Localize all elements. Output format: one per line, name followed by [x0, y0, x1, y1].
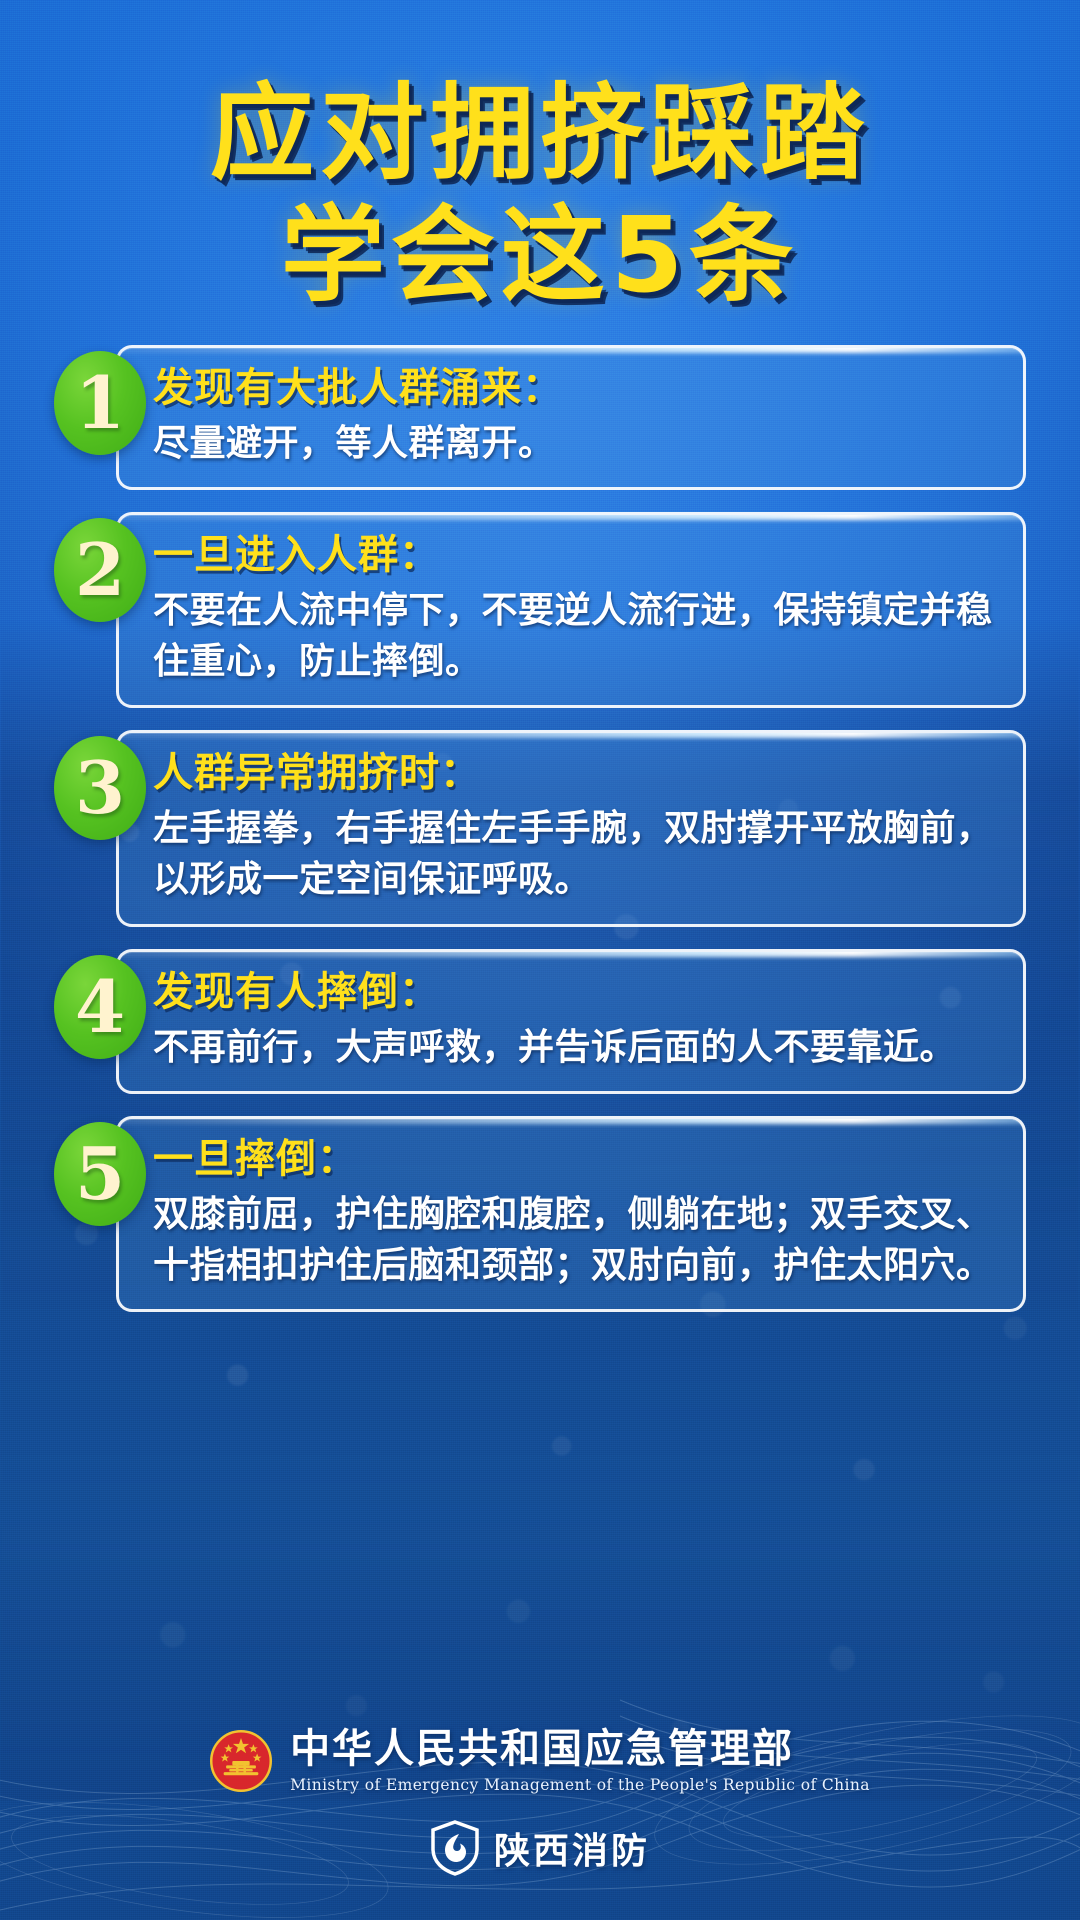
- tip-card: 人群异常拥挤时： 左手握拳，右手握住左手手腕，双肘撑开平放胸前，以形成一定空间保…: [116, 730, 1026, 926]
- ministry-name-en: Ministry of Emergency Management of the …: [290, 1776, 870, 1794]
- tip-card: 一旦进入人群： 不要在人流中停下，不要逆人流行进，保持镇定并稳住重心，防止摔倒。: [116, 512, 1026, 708]
- ministry-lockup: 中华人民共和国应急管理部 Ministry of Emergency Manag…: [0, 1727, 1080, 1794]
- tip-body: 尽量避开，等人群离开。: [153, 418, 999, 469]
- poster-root: 应对拥挤踩踏 学会这5条 1 发现有大批人群涌来： 尽量避开，等人群离开。 2 …: [0, 0, 1080, 1920]
- tip-number-badge: 4: [54, 955, 146, 1059]
- ministry-name-cn: 中华人民共和国应急管理部: [290, 1727, 870, 1771]
- brand-name: 陕西消防: [494, 1822, 650, 1874]
- tip-number-badge: 3: [54, 736, 146, 840]
- tip-heading: 一旦进入人群：: [153, 529, 999, 581]
- title-line-2: 学会这5条: [0, 200, 1080, 310]
- tip-number-badge: 2: [54, 518, 146, 622]
- tip-number: 3: [75, 752, 125, 824]
- tip-number-badge: 5: [54, 1122, 146, 1226]
- poster-title: 应对拥挤踩踏 学会这5条: [0, 78, 1080, 310]
- tip-heading: 人群异常拥挤时：: [153, 747, 999, 799]
- tip-heading: 发现有大批人群涌来：: [153, 362, 999, 414]
- shield-flame-icon: [430, 1820, 480, 1876]
- ministry-text: 中华人民共和国应急管理部 Ministry of Emergency Manag…: [290, 1727, 870, 1794]
- tip-item: 2 一旦进入人群： 不要在人流中停下，不要逆人流行进，保持镇定并稳住重心，防止摔…: [54, 512, 1026, 708]
- tip-body: 不要在人流中停下，不要逆人流行进，保持镇定并稳住重心，防止摔倒。: [153, 585, 999, 687]
- tip-number-badge: 1: [54, 351, 146, 455]
- tip-item: 5 一旦摔倒： 双膝前屈，护住胸腔和腹腔，侧躺在地；双手交叉、十指相扣护住后脑和…: [54, 1116, 1026, 1312]
- tip-item: 1 发现有大批人群涌来： 尽量避开，等人群离开。: [54, 345, 1026, 490]
- brand-lockup: 陕西消防: [0, 1820, 1080, 1876]
- tip-card: 发现有大批人群涌来： 尽量避开，等人群离开。: [116, 345, 1026, 490]
- tip-number: 5: [75, 1138, 125, 1210]
- tip-card: 发现有人摔倒： 不再前行，大声呼救，并告诉后面的人不要靠近。: [116, 949, 1026, 1094]
- tip-body: 不再前行，大声呼救，并告诉后面的人不要靠近。: [153, 1022, 999, 1073]
- tip-heading: 一旦摔倒：: [153, 1133, 999, 1185]
- tips-list: 1 发现有大批人群涌来： 尽量避开，等人群离开。 2 一旦进入人群： 不要在人流…: [0, 345, 1080, 1334]
- tip-item: 3 人群异常拥挤时： 左手握拳，右手握住左手手腕，双肘撑开平放胸前，以形成一定空…: [54, 730, 1026, 926]
- national-emblem-icon: [210, 1730, 272, 1792]
- tip-card: 一旦摔倒： 双膝前屈，护住胸腔和腹腔，侧躺在地；双手交叉、十指相扣护住后脑和颈部…: [116, 1116, 1026, 1312]
- tip-heading: 发现有人摔倒：: [153, 966, 999, 1018]
- tip-number: 1: [75, 367, 125, 439]
- tip-body: 双膝前屈，护住胸腔和腹腔，侧躺在地；双手交叉、十指相扣护住后脑和颈部；双肘向前，…: [153, 1189, 999, 1291]
- tip-item: 4 发现有人摔倒： 不再前行，大声呼救，并告诉后面的人不要靠近。: [54, 949, 1026, 1094]
- tip-body: 左手握拳，右手握住左手手腕，双肘撑开平放胸前，以形成一定空间保证呼吸。: [153, 803, 999, 905]
- title-line-1: 应对拥挤踩踏: [0, 78, 1080, 188]
- tip-number: 2: [75, 534, 125, 606]
- tip-number: 4: [75, 971, 125, 1043]
- footer: 中华人民共和国应急管理部 Ministry of Emergency Manag…: [0, 1727, 1080, 1876]
